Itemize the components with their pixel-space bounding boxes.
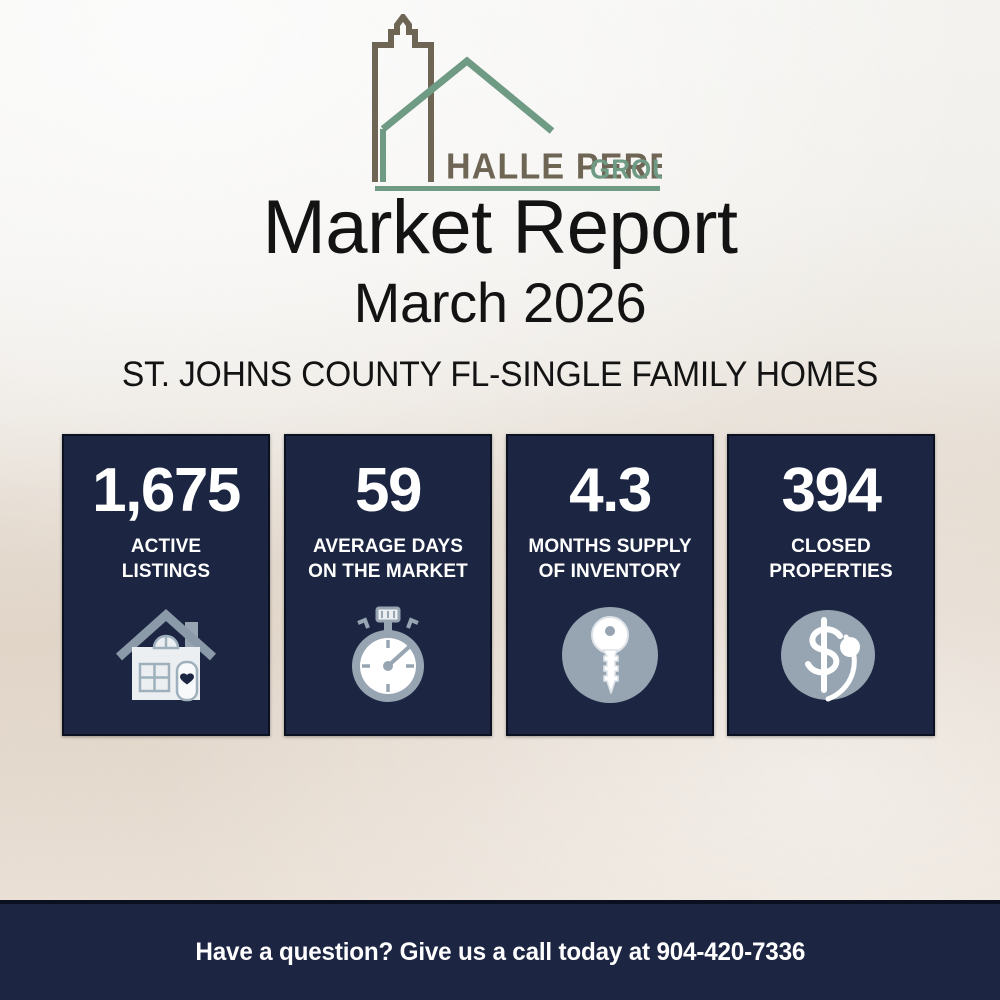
footer-contact-text: Have a question? Give us a call today at… [195,938,805,967]
stat-card-active-listings: 1,675 ACTIVE LISTINGS [62,434,270,736]
stat-card-group: 1,675 ACTIVE LISTINGS 59 AVERAGE DAYS ON… [0,434,1000,736]
stat-card-average-days-on-market: 59 AVERAGE DAYS ON THE MARKET [284,434,492,736]
stopwatch-icon [335,602,441,708]
key-icon [557,602,663,708]
stat-value: 1,675 [92,458,240,523]
contact-footer-bar: Have a question? Give us a call today at… [0,900,1000,1000]
stat-label: MONTHS SUPPLY OF INVENTORY [528,535,691,584]
stat-value: 394 [782,458,881,523]
halle-perez-group-logo: HALLE PEREZ GROUP [350,14,662,192]
stat-value: 59 [355,458,421,523]
dollar-coin-icon [778,602,884,708]
report-region: ST. JOHNS COUNTY FL-SINGLE FAMILY HOMES [20,357,980,392]
page-title: Market Report [0,190,1000,266]
stat-label: CLOSED PROPERTIES [769,535,892,584]
stat-label: ACTIVE LISTINGS [122,535,210,584]
logo-wordmark-secondary: GROUP [590,154,662,185]
stat-value: 4.3 [569,458,651,523]
stat-card-closed-properties: 394 CLOSED PROPERTIES [727,434,935,736]
house-icon [113,602,219,708]
stat-card-months-supply: 4.3 MONTHS SUPPLY OF INVENTORY [506,434,714,736]
stat-label: AVERAGE DAYS ON THE MARKET [308,535,468,584]
report-month: March 2026 [0,275,1000,331]
